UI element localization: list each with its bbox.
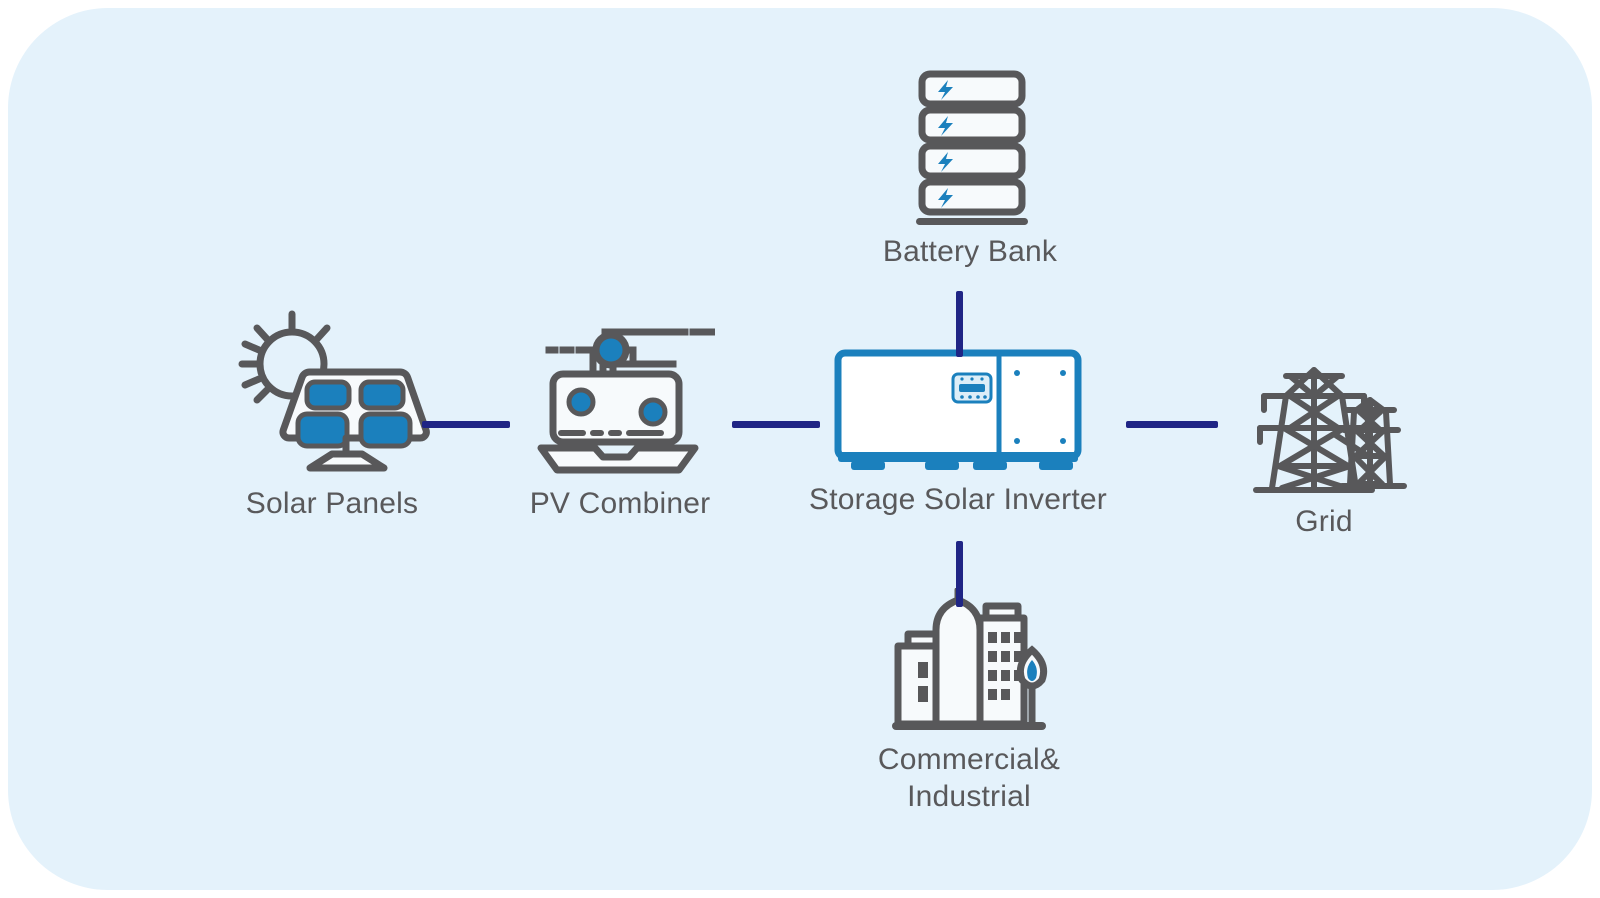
battery-module [922, 110, 1022, 140]
battery-module [922, 146, 1022, 176]
battery-stack-icon [904, 68, 1036, 228]
battery-module [922, 182, 1022, 212]
node-label-solar-panels: Solar Panels [246, 486, 419, 523]
node-label-battery-bank: Battery Bank [883, 234, 1057, 271]
node-label-grid: Grid [1295, 504, 1352, 541]
transmission-tower-icon [1242, 338, 1407, 498]
pv-combiner-icon [525, 308, 715, 480]
connector-battery-to-inverter [956, 291, 963, 357]
node-label-pv-combiner: PV Combiner [530, 486, 711, 523]
connector-inverter-to-grid [1126, 421, 1218, 428]
storage-solar-inverter-icon [833, 348, 1083, 476]
building-base-line [892, 722, 1046, 730]
connector-inverter-to-building [956, 541, 963, 607]
node-grid[interactable]: Grid [1220, 338, 1428, 541]
inverter-display-panel [953, 374, 991, 402]
battery-base-line [916, 218, 1028, 225]
node-solar-panels[interactable]: Solar Panels [204, 308, 460, 523]
city-buildings-icon [886, 588, 1052, 736]
solar-panel-icon [232, 308, 432, 480]
node-label-commercial-industrial: Commercial& Industrial [878, 742, 1060, 815]
node-commercial-industrial[interactable]: Commercial& Industrial [854, 588, 1084, 815]
node-pv-combiner[interactable]: PV Combiner [496, 308, 744, 523]
node-battery-bank[interactable]: Battery Bank [860, 68, 1080, 271]
diagram-card: Solar Panels [8, 8, 1592, 890]
node-storage-solar-inverter[interactable]: Storage Solar Inverter [798, 348, 1118, 519]
connector-combiner-to-inverter [732, 421, 820, 428]
battery-module [922, 74, 1022, 104]
node-label-storage-solar-inverter: Storage Solar Inverter [809, 482, 1107, 519]
connector-solar-to-combiner [422, 421, 510, 428]
